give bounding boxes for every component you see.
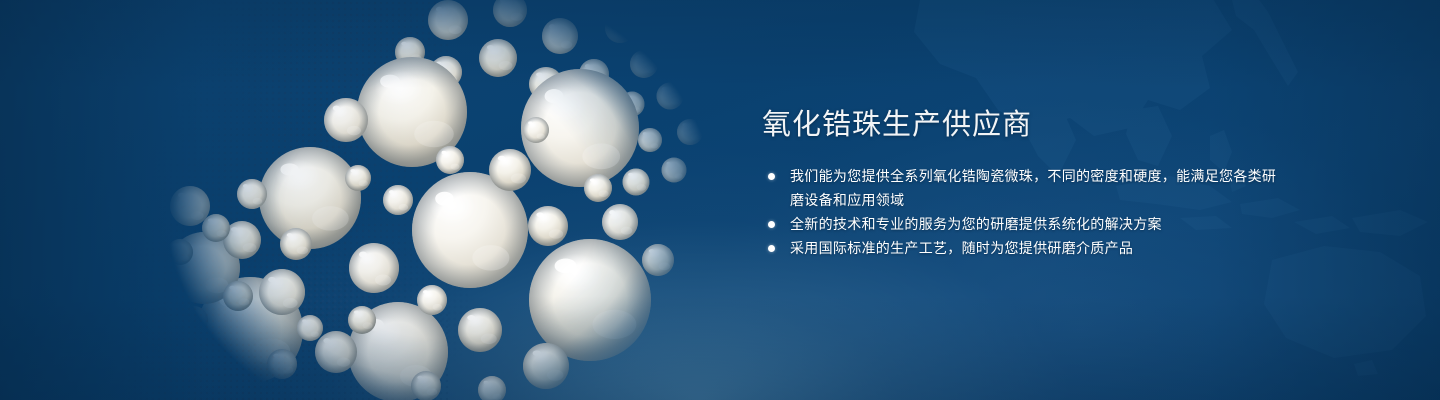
list-item-text: 全新的技术和专业的服务为您的研磨提供系统化的解决方案 <box>790 216 1162 232</box>
list-item: 全新的技术和专业的服务为您的研磨提供系统化的解决方案 <box>762 212 1282 236</box>
bullet-dot-icon <box>768 221 775 228</box>
feature-list: 我们能为您提供全系列氧化锆陶瓷微珠，不同的密度和硬度，能满足您各类研磨设备和应用… <box>762 164 1282 260</box>
hero-banner: 氧化锆珠生产供应商 我们能为您提供全系列氧化锆陶瓷微珠，不同的密度和硬度，能满足… <box>0 0 1440 400</box>
bullet-dot-icon <box>768 173 775 180</box>
page-title: 氧化锆珠生产供应商 <box>762 106 1282 144</box>
list-item-text: 我们能为您提供全系列氧化锆陶瓷微珠，不同的密度和硬度，能满足您各类研磨设备和应用… <box>790 168 1276 208</box>
list-item: 采用国际标准的生产工艺，随时为您提供研磨介质产品 <box>762 236 1282 260</box>
list-item: 我们能为您提供全系列氧化锆陶瓷微珠，不同的密度和硬度，能满足您各类研磨设备和应用… <box>762 164 1282 212</box>
list-item-text: 采用国际标准的生产工艺，随时为您提供研磨介质产品 <box>790 240 1133 256</box>
bullet-dot-icon <box>768 245 775 252</box>
banner-copy: 氧化锆珠生产供应商 我们能为您提供全系列氧化锆陶瓷微珠，不同的密度和硬度，能满足… <box>762 106 1282 260</box>
